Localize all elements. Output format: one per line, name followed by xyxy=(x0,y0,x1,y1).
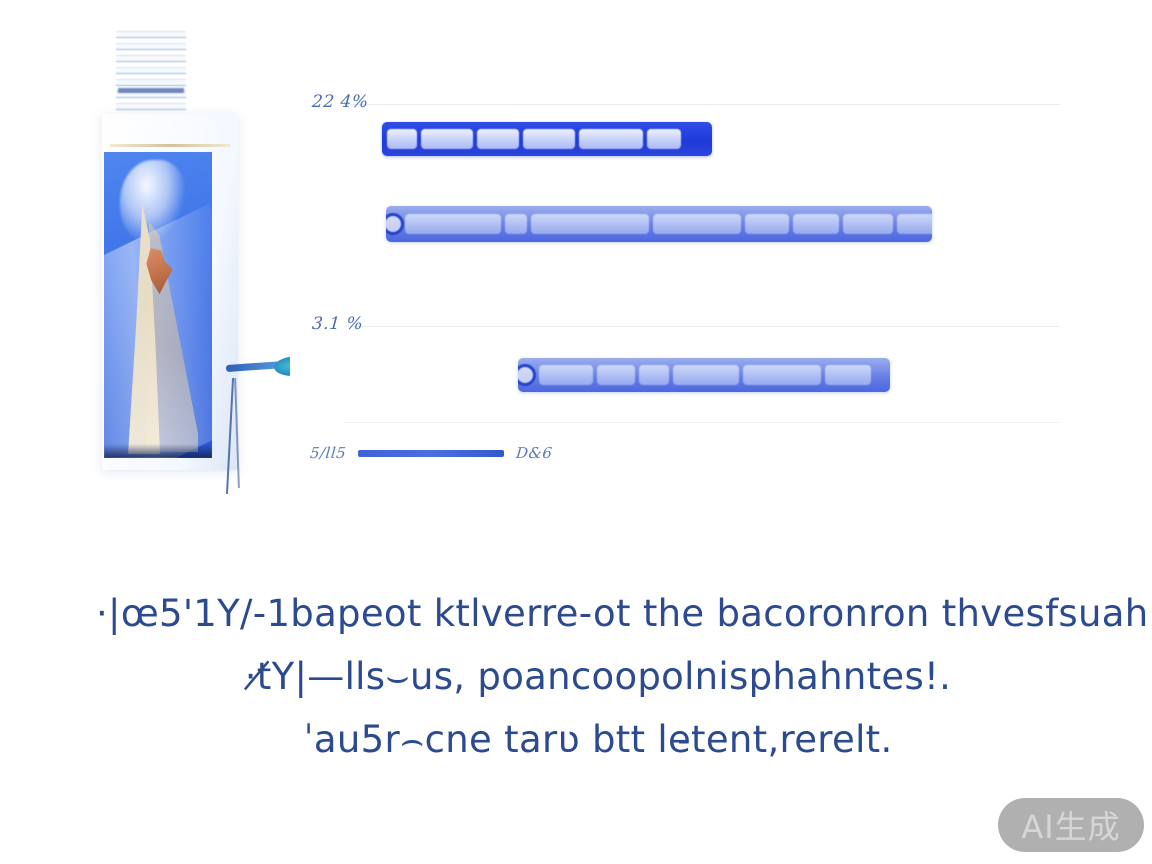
bar-segment xyxy=(539,365,593,385)
legend-label-left: 5/ll5 xyxy=(309,444,347,462)
caption-line-1: ·|œ5'1Y/-1bapeot ktlverre-ot the bacoron… xyxy=(96,582,1100,645)
bar-segment xyxy=(897,214,932,235)
bar-segment xyxy=(421,129,473,149)
bar-segment xyxy=(745,214,789,235)
product-carton xyxy=(102,114,238,470)
bar-segment xyxy=(597,365,635,385)
caption-line-3: ˈau5r⌢ϲne tarʋ btt le̵tent,rerelt. xyxy=(96,708,1100,771)
product-package-photo xyxy=(86,26,238,476)
slide-canvas: 22 4% 3.1 % xyxy=(0,0,1152,864)
bar-segment xyxy=(673,365,739,385)
bar-segment xyxy=(825,365,871,385)
bar-segment xyxy=(647,129,681,149)
bar-item-2[interactable] xyxy=(386,206,932,242)
axis-tick-label-2: 3.1 % xyxy=(311,314,363,334)
bar-segment xyxy=(639,365,669,385)
caption-block: ·|œ5'1Y/-1bapeot ktlverre-ot the bacoron… xyxy=(96,582,1100,771)
bar-segment xyxy=(743,365,821,385)
bar-segment xyxy=(523,129,575,149)
bar-segment xyxy=(653,214,741,235)
gridline-3 xyxy=(344,422,1060,423)
bar-segment xyxy=(505,214,527,235)
bar-segment xyxy=(793,214,839,235)
axis-tick-label-1: 22 4% xyxy=(311,92,369,112)
gridline-1 xyxy=(344,104,1060,105)
bar-segment xyxy=(405,214,501,235)
bar-segment xyxy=(531,214,649,235)
bar-chart: 22 4% 3.1 % xyxy=(290,64,1060,488)
ring-glyph-icon xyxy=(518,364,536,386)
product-photo-panel xyxy=(104,152,212,458)
ring-glyph-icon xyxy=(386,213,404,235)
caption-line-2: ·t̸Y|—lls⌣us, poancoopolnisphahntes!. xyxy=(96,645,1100,708)
bar-segment xyxy=(843,214,893,235)
bar-segment xyxy=(387,129,417,149)
photo-base-shadow xyxy=(104,444,212,458)
bar-item-3[interactable] xyxy=(518,358,890,392)
bar-item-1[interactable] xyxy=(382,122,712,156)
chart-legend: 5/ll5 D&6 xyxy=(310,444,553,462)
bar-segment xyxy=(477,129,519,149)
carton-lip xyxy=(110,144,230,147)
legend-swatch xyxy=(358,450,504,457)
paper-stack-icon xyxy=(116,26,186,122)
ai-generated-watermark: AI生成 xyxy=(998,798,1144,852)
gridline-2 xyxy=(344,326,1060,327)
legend-label-right: D&6 xyxy=(515,444,553,462)
bar-segment xyxy=(579,129,643,149)
